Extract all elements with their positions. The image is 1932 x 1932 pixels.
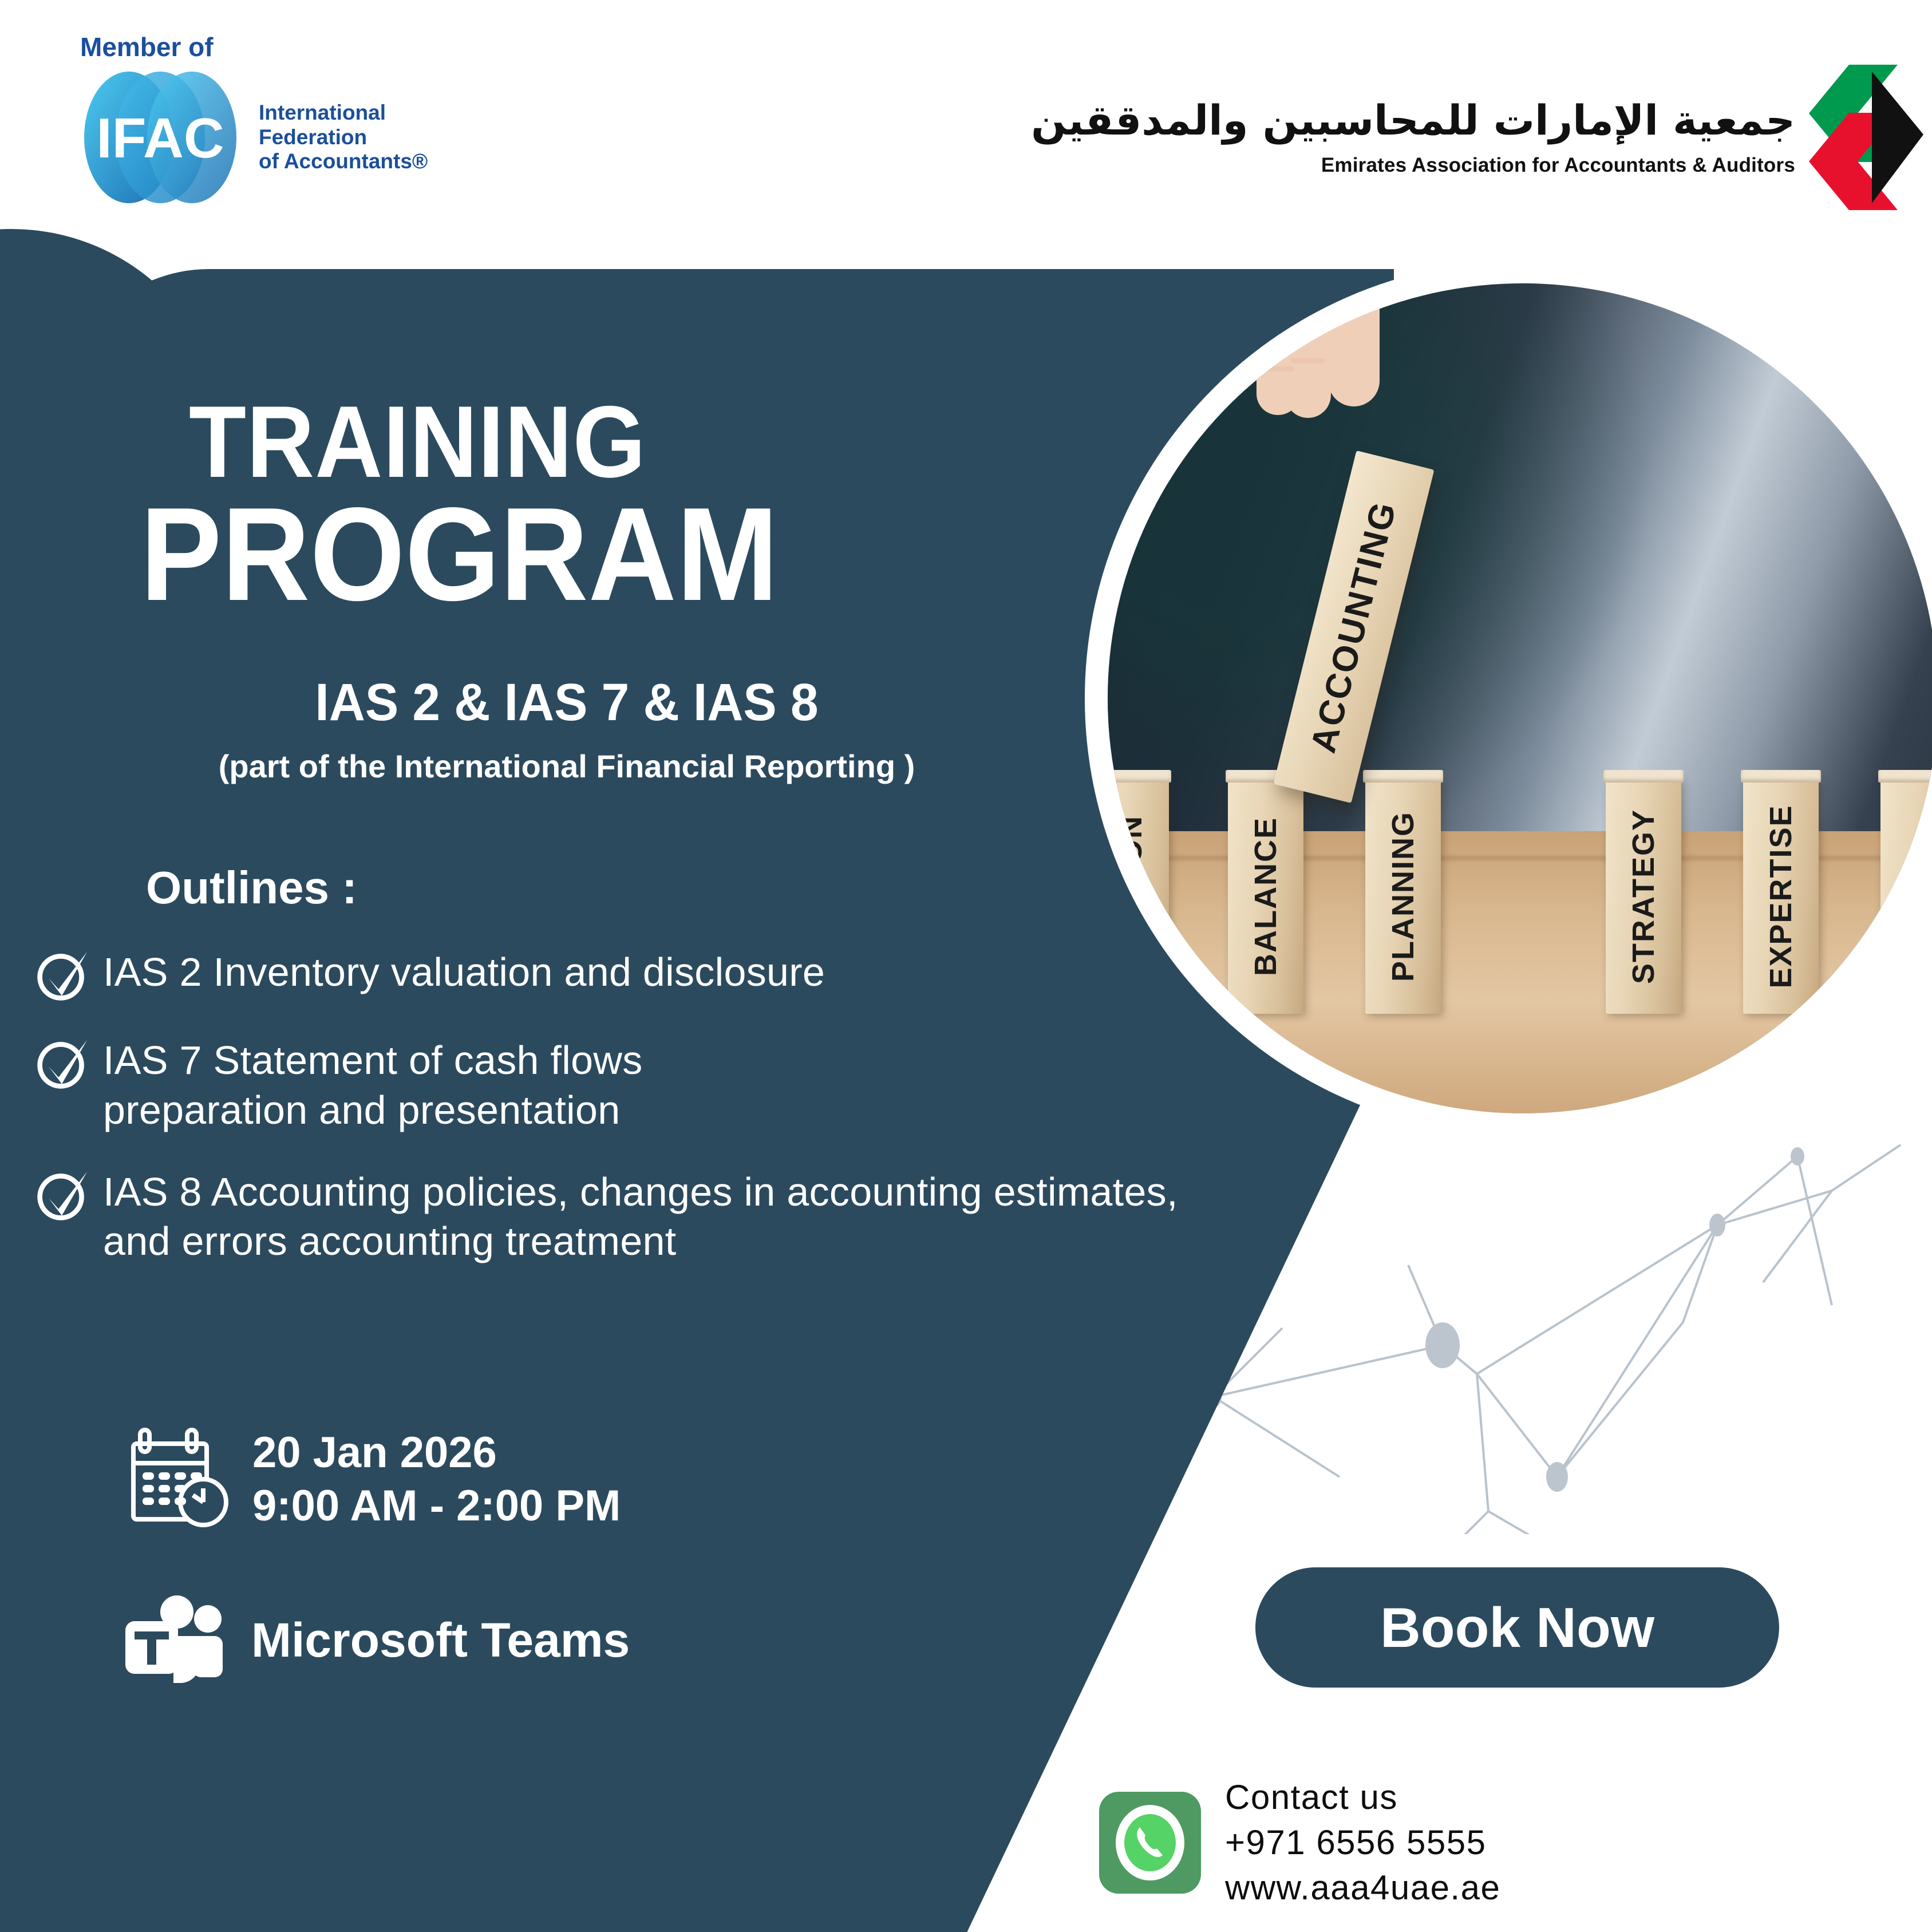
subtitle-note: (part of the International Financial Rep…: [172, 748, 962, 785]
eaaa-arabic-name: جمعية الإمارات للمحاسبين والمدققين: [1031, 98, 1795, 143]
wood-block-label: EXPERTISE: [1763, 804, 1799, 988]
platform-block: Microsoft Teams: [123, 1591, 630, 1689]
ifac-line-1: International: [259, 101, 428, 125]
book-now-button[interactable]: Book Now: [1255, 1567, 1779, 1688]
check-circle-icon: [34, 1168, 89, 1223]
ifac-logo: Member of IFAC International Federation …: [74, 31, 428, 209]
contact-phone[interactable]: +971 6556 5555: [1225, 1820, 1500, 1865]
hero-photo-accounting-blocks: TAXATION BALANCE PLANNING STRATEGY EXPER…: [1108, 283, 1932, 1113]
list-item: IAS 8 Accounting policies, changes in ac…: [34, 1167, 1196, 1267]
hand-icon: [1251, 283, 1497, 507]
whatsapp-icon[interactable]: [1099, 1792, 1201, 1894]
ifac-fullname: International Federation of Accountants®: [259, 101, 428, 175]
title-line-1: TRAINING: [189, 395, 782, 489]
ifac-member-label: Member of: [80, 31, 428, 62]
ifac-line-3: of Accountants®: [259, 149, 428, 174]
ifac-line-2: Federation: [259, 125, 428, 150]
wood-block-label: STRATEGY: [1626, 809, 1661, 984]
schedule-time: 9:00 AM - 2:00 PM: [252, 1480, 621, 1533]
list-item-label: IAS 7 Statement of cash flows preparatio…: [103, 1036, 721, 1135]
wood-block: EXPERTISE: [1743, 779, 1819, 1014]
subtitle-block: IAS 2 & IAS 7 & IAS 8 (part of the Inter…: [172, 673, 962, 785]
schedule-date: 20 Jan 2026: [252, 1427, 621, 1480]
outlines-heading: Outlines :: [146, 862, 357, 914]
ifac-mark-icon: IFAC: [74, 66, 246, 209]
eaaa-logo: جمعية الإمارات للمحاسبين والمدققين Emira…: [1031, 60, 1932, 215]
platform-label: Microsoft Teams: [251, 1613, 630, 1668]
list-item-label: IAS 2 Inventory valuation and disclosure: [103, 947, 825, 997]
contact-website[interactable]: www.aaa4uae.ae: [1225, 1865, 1500, 1910]
wood-block: PLANNING: [1365, 779, 1441, 1014]
check-circle-icon: [34, 1037, 89, 1092]
contact-heading: Contact us: [1225, 1775, 1500, 1820]
title-line-2: PROGRAM: [140, 493, 779, 615]
wood-block-label: PLANNING: [1385, 811, 1421, 982]
check-circle-icon: [34, 949, 89, 1003]
svg-text:IFAC: IFAC: [96, 106, 224, 169]
wood-block: BALANCE: [1228, 779, 1303, 1014]
eaaa-english-name: Emirates Association for Accountants & A…: [1031, 154, 1795, 177]
wood-block: STRATEGY: [1606, 779, 1681, 1014]
page-title: TRAINING PROGRAM: [189, 395, 834, 615]
wood-block-label: BALANCE: [1248, 817, 1283, 976]
list-item: IAS 7 Statement of cash flows preparatio…: [34, 1036, 1196, 1135]
list-item-label: IAS 8 Accounting policies, changes in ac…: [103, 1167, 1179, 1267]
eaaa-chevron-mark-icon: [1809, 60, 1932, 215]
outlines-list: IAS 2 Inventory valuation and disclosure…: [34, 947, 1196, 1298]
list-item: IAS 2 Inventory valuation and disclosure: [34, 947, 1196, 1003]
contact-block: Contact us +971 6556 5555 www.aaa4uae.ae: [1099, 1775, 1500, 1911]
schedule-block: 20 Jan 2026 9:00 AM - 2:00 PM: [123, 1425, 621, 1534]
calendar-clock-icon: [123, 1425, 232, 1534]
subtitle-standards: IAS 2 & IAS 7 & IAS 8: [192, 673, 942, 733]
microsoft-teams-icon: [123, 1591, 226, 1689]
wood-block: [1880, 779, 1932, 1014]
